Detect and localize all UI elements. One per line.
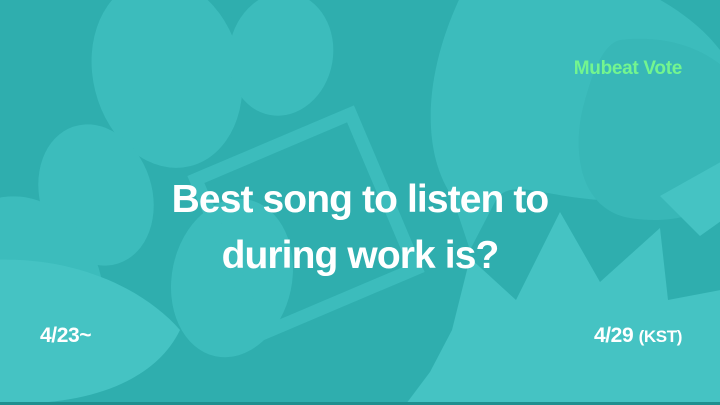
vote-poster-card: Mubeat Vote Best song to listen to durin… <box>0 0 720 405</box>
poster-content: Mubeat Vote Best song to listen to durin… <box>0 0 720 405</box>
page-title: Best song to listen to during work is? <box>0 172 720 284</box>
title-line-2: during work is? <box>0 228 720 284</box>
brand-label: Mubeat Vote <box>574 58 682 80</box>
vote-end-timezone: (KST) <box>639 327 682 346</box>
vote-end-date-value: 4/29 <box>594 324 639 347</box>
vote-end-date: 4/29 (KST) <box>594 324 682 348</box>
title-line-1: Best song to listen to <box>0 172 720 228</box>
vote-start-date: 4/23~ <box>40 324 91 348</box>
